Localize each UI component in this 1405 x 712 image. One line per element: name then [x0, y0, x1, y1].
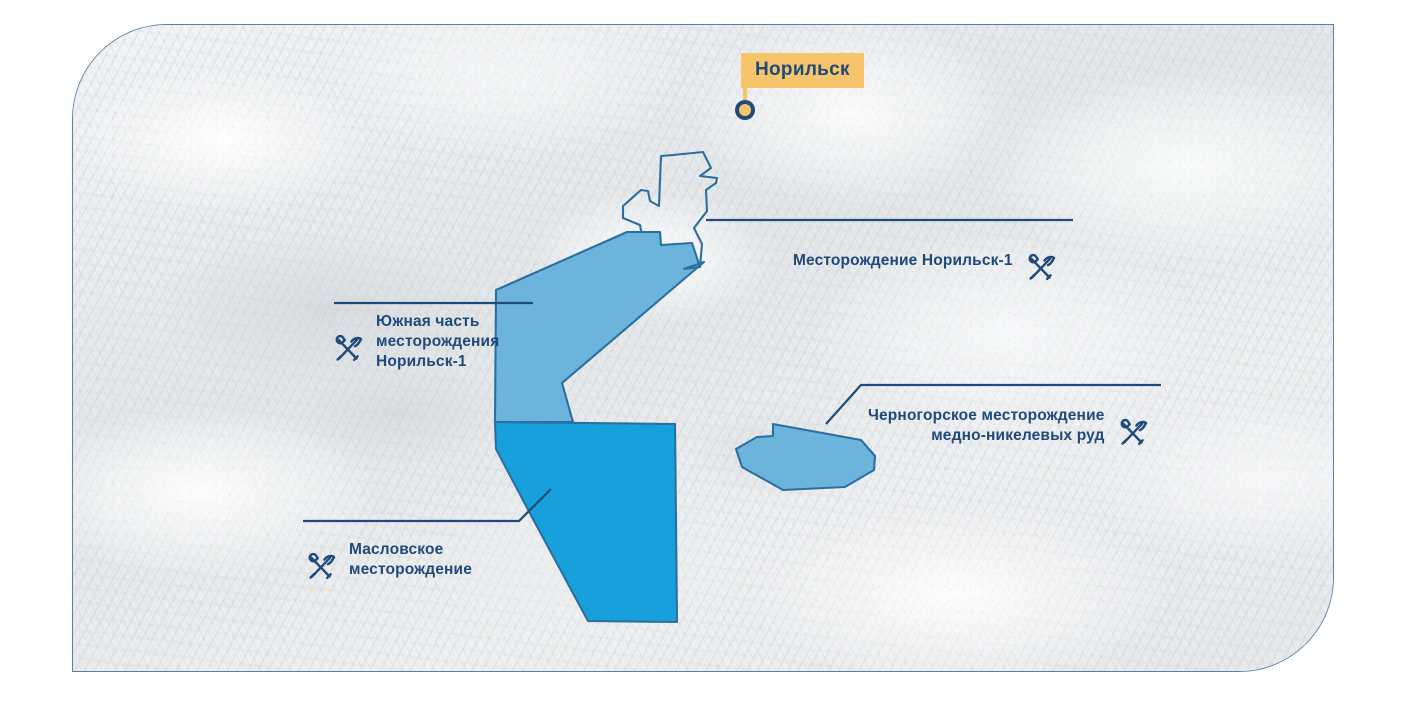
mining-pick-shovel-icon: [304, 530, 338, 590]
callout-chernogorskoye-label: Черногорское месторождение медно-никелев…: [868, 406, 1105, 446]
mining-pick-shovel-icon: [1116, 396, 1150, 456]
callout-south-norilsk1[interactable]: Южная часть месторождения Норильск-1: [331, 312, 499, 372]
callout-norilsk1-label: Месторождение Норильск-1: [793, 251, 1013, 271]
deposit-polygon-maslovskoye[interactable]: [495, 422, 677, 622]
callout-chernogorskoye[interactable]: Черногорское месторождение медно-никелев…: [868, 396, 1150, 456]
mining-pick-shovel-icon: [331, 312, 365, 372]
map-vector-overlay: [0, 0, 1405, 712]
map-infographic: Норильск Месторождение Норильск-1: [0, 0, 1405, 712]
callout-maslovskoye[interactable]: Масловское месторождение: [304, 530, 472, 590]
deposit-polygon-chernogorskoye[interactable]: [736, 424, 875, 490]
deposit-polygon-south-norilsk1[interactable]: [495, 232, 704, 422]
leader-line-maslovskoye: [303, 489, 551, 521]
callout-maslovskoye-label: Масловское месторождение: [349, 540, 472, 580]
callout-norilsk1[interactable]: Месторождение Норильск-1: [793, 231, 1058, 291]
city-pin-inner-dot: [739, 104, 751, 116]
callout-south-norilsk1-label: Южная часть месторождения Норильск-1: [376, 312, 499, 371]
mining-pick-shovel-icon: [1024, 231, 1058, 291]
city-label-norilsk[interactable]: Норильск: [741, 53, 864, 88]
